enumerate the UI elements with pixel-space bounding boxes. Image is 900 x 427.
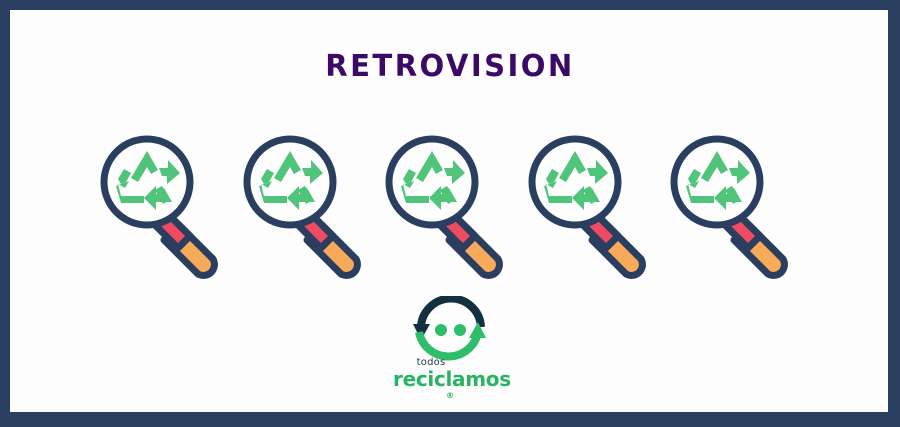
registered-mark-icon: ® [446, 392, 454, 400]
recycling-magnifier-icon [243, 124, 373, 284]
logo-main-word: reciclamos [393, 369, 511, 389]
magnifier-icon-row [100, 124, 800, 284]
poster-canvas: RETROVISION [0, 0, 900, 427]
recycling-magnifier-icon [385, 124, 515, 284]
recycling-magnifier-icon [670, 124, 800, 284]
recycling-smiley-icon [412, 296, 488, 362]
recycling-magnifier-icon [100, 124, 230, 284]
logo-wordmark: todos reciclamos® [393, 358, 507, 406]
page-title: RETROVISION [14, 52, 887, 82]
brand-logo: todos reciclamos® [393, 296, 507, 400]
recycling-magnifier-icon [528, 124, 658, 284]
